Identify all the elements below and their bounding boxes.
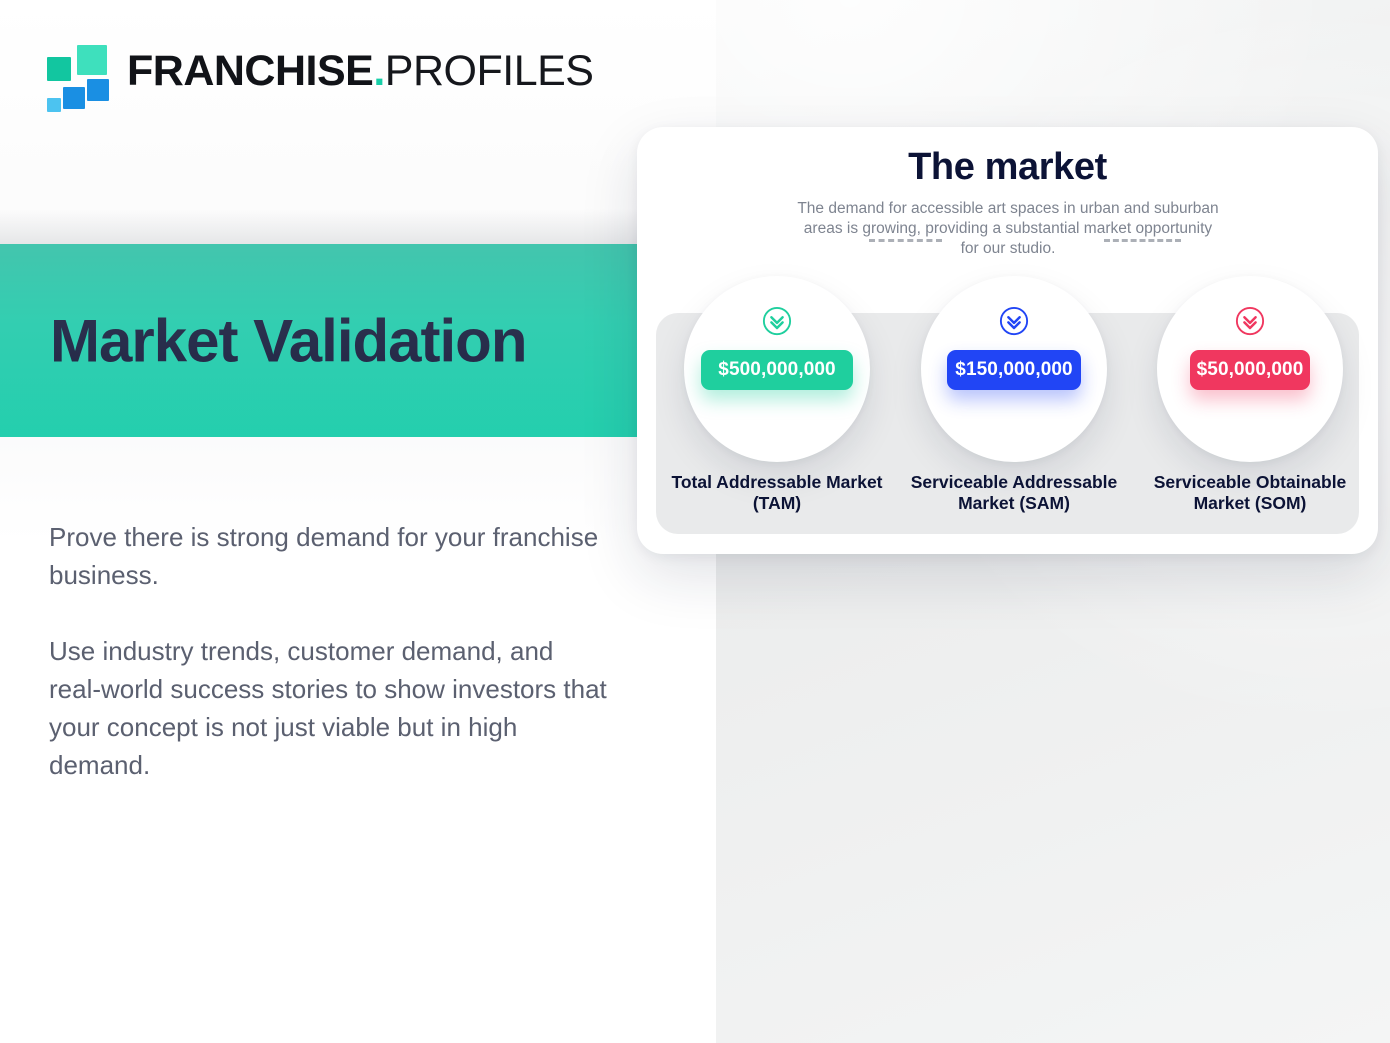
- market-card-title: The market: [637, 146, 1378, 189]
- brand-word-primary: FRANCHISE: [127, 47, 373, 95]
- market-value-badge-som: $50,000,000: [1190, 350, 1310, 390]
- market-node-bubble: $150,000,000: [921, 276, 1107, 462]
- squares-mosaic-icon: [47, 45, 109, 97]
- market-node-sam[interactable]: $150,000,000 Serviceable Addressable Mar…: [921, 276, 1107, 462]
- double-chevron-down-icon: [1235, 306, 1265, 336]
- double-chevron-down-icon: [762, 306, 792, 336]
- market-node-tam[interactable]: $500,000,000 Total Addressable Market (T…: [684, 276, 870, 462]
- market-value-badge-tam: $500,000,000: [701, 350, 853, 390]
- market-card-subtitle: The demand for accessible art spaces in …: [793, 199, 1223, 259]
- description-paragraph-1: Prove there is strong demand for your fr…: [49, 518, 609, 594]
- brand-logo[interactable]: FRANCHISE.PROFILES: [47, 45, 593, 97]
- brand-word-secondary: PROFILES: [385, 47, 594, 95]
- market-node-bubble: $500,000,000: [684, 276, 870, 462]
- market-node-som[interactable]: $50,000,000 Serviceable Obtainable Marke…: [1157, 276, 1343, 462]
- section-title-banner: Market Validation: [0, 244, 637, 437]
- market-node-label-tam: Total Addressable Market (TAM): [662, 472, 892, 514]
- market-node-bubble: $50,000,000: [1157, 276, 1343, 462]
- brand-logo-text: FRANCHISE.PROFILES: [127, 50, 593, 93]
- market-value-badge-sam: $150,000,000: [947, 350, 1081, 390]
- description-paragraph-2: Use industry trends, customer demand, an…: [49, 632, 609, 784]
- double-chevron-down-icon: [999, 306, 1029, 336]
- left-panel: FRANCHISE.PROFILES Market Validation Pro…: [0, 0, 716, 1043]
- page-title: Market Validation: [50, 306, 526, 375]
- brand-dot: .: [373, 47, 384, 95]
- section-description: Prove there is strong demand for your fr…: [49, 518, 609, 784]
- market-node-label-sam: Serviceable Addressable Market (SAM): [899, 472, 1129, 514]
- market-node-label-som: Serviceable Obtainable Market (SOM): [1135, 472, 1365, 514]
